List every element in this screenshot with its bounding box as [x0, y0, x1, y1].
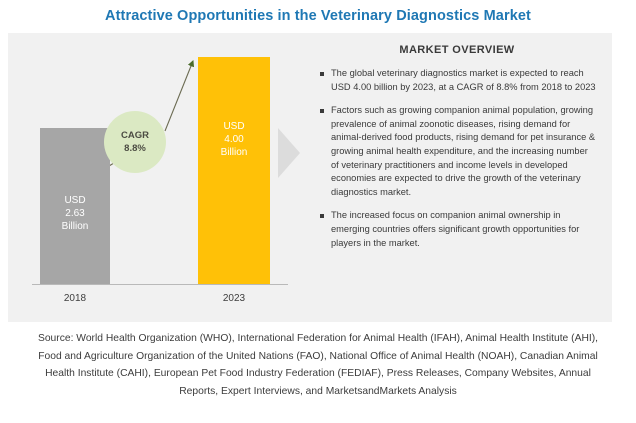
- page-title: Attractive Opportunities in the Veterina…: [0, 8, 636, 24]
- bar-2023-label-line3: Billion: [198, 146, 270, 159]
- chart-baseline: [32, 284, 288, 285]
- bar-2018-label-line1: USD: [40, 194, 110, 207]
- bar-2023-label: USD 4.00 Billion: [198, 120, 270, 159]
- bar-2018: USD 2.63 Billion: [40, 128, 110, 284]
- overview-bullet-2: Factors such as growing companion animal…: [331, 104, 598, 199]
- bar-chart: USD 2.63 Billion USD 4.00 Billion 2018 2…: [8, 33, 308, 322]
- content-panel: USD 2.63 Billion USD 4.00 Billion 2018 2…: [8, 33, 612, 322]
- list-item: The global veterinary diagnostics market…: [316, 67, 598, 94]
- source-footnote: Source: World Health Organization (WHO),…: [26, 330, 610, 400]
- market-overview-heading: MARKET OVERVIEW: [316, 44, 598, 56]
- cagr-badge: CAGR 8.8%: [104, 111, 166, 173]
- overview-bullet-3: The increased focus on companion animal …: [331, 209, 598, 250]
- cagr-value: 8.8%: [124, 142, 146, 155]
- x-axis-tick-2018: 2018: [40, 293, 110, 304]
- chevron-right-icon: [278, 128, 300, 178]
- infographic-page: Attractive Opportunities in the Veterina…: [0, 0, 636, 423]
- market-overview-section: MARKET OVERVIEW The global veterinary di…: [310, 33, 612, 322]
- overview-bullet-1: The global veterinary diagnostics market…: [331, 67, 598, 94]
- list-item: Factors such as growing companion animal…: [316, 104, 598, 199]
- bar-2018-label-line3: Billion: [40, 220, 110, 233]
- bullet-square-icon: [320, 72, 324, 76]
- bar-2023-label-line1: USD: [198, 120, 270, 133]
- bar-2018-label: USD 2.63 Billion: [40, 194, 110, 233]
- bullet-square-icon: [320, 214, 324, 218]
- bar-2023-label-line2: 4.00: [198, 133, 270, 146]
- cagr-label: CAGR: [121, 129, 149, 142]
- list-item: The increased focus on companion animal …: [316, 209, 598, 250]
- bullet-square-icon: [320, 109, 324, 113]
- bar-2023: USD 4.00 Billion: [198, 57, 270, 284]
- x-axis-tick-2023: 2023: [199, 293, 269, 304]
- bar-2018-label-line2: 2.63: [40, 207, 110, 220]
